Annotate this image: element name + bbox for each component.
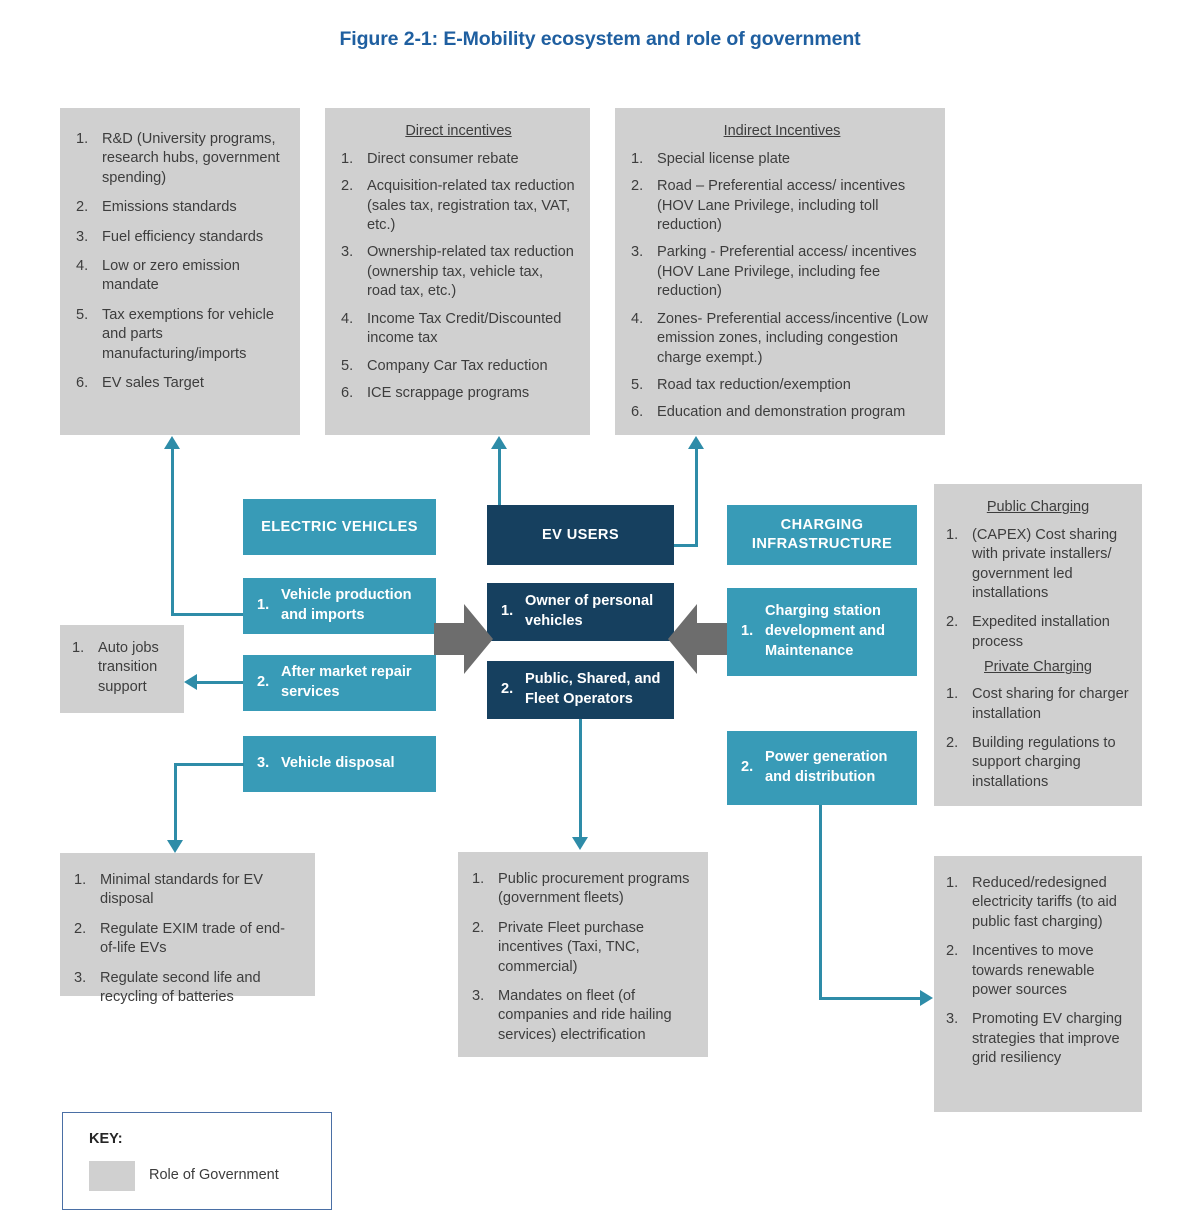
- charging-item-power-generation: 2. Power generation and distribution: [727, 731, 917, 805]
- arrowhead-up-vehicle-policy: [164, 436, 180, 449]
- indirect-incentives-list: Special license plate Road – Preferentia…: [631, 150, 933, 423]
- arrowhead-down-fleet-policy: [572, 837, 588, 850]
- indirect-incentives-header: Indirect Incentives: [631, 122, 933, 141]
- list-item: Auto jobs transition support: [72, 639, 176, 697]
- connector-power-vertical: [819, 805, 822, 1000]
- item-text: Power generation and distribution: [765, 748, 907, 787]
- item-text: Charging station development and Mainten…: [765, 602, 907, 661]
- list-item: Emissions standards: [76, 198, 282, 217]
- list-item: Expedited installation process: [946, 613, 1130, 652]
- evuser-item-owner-personal: 1. Owner of personal vehicles: [487, 583, 674, 641]
- item-number: 2.: [257, 673, 281, 693]
- list-item: Promoting EV charging strategies that im…: [946, 1010, 1130, 1068]
- fleet-policy-list: Public procurement programs (government …: [472, 870, 694, 1045]
- arrowhead-left-auto-jobs: [184, 674, 197, 690]
- gov-box-power-policy: Reduced/redesigned electricity tariffs (…: [934, 856, 1142, 1112]
- evuser-item-fleet-operators: 2. Public, Shared, and Fleet Operators: [487, 661, 674, 719]
- list-item: Road – Preferential access/ incentives (…: [631, 177, 933, 235]
- power-policy-list: Reduced/redesigned electricity tariffs (…: [946, 874, 1130, 1069]
- pillar-title-text: ELECTRIC VEHICLES: [261, 518, 418, 537]
- connector-fleet-vertical: [579, 719, 582, 839]
- pillar-electric-vehicles-title: ELECTRIC VEHICLES: [243, 499, 436, 555]
- item-number: 2.: [501, 680, 525, 700]
- list-item: Building regulations to support charging…: [946, 734, 1130, 792]
- gov-box-fleet-policy: Public procurement programs (government …: [458, 852, 708, 1057]
- list-item: R&D (University programs, research hubs,…: [76, 130, 282, 188]
- flow-arrow-vehicles-to-users-icon: [434, 602, 494, 676]
- list-item: Tax exemptions for vehicle and parts man…: [76, 306, 282, 364]
- connector-disposal-horizontal: [174, 763, 244, 766]
- gov-box-vehicle-policy: R&D (University programs, research hubs,…: [60, 108, 300, 435]
- connector-evusers-to-indirect-vertical: [695, 448, 698, 546]
- figure-canvas: Figure 2-1: E-Mobility ecosystem and rol…: [0, 0, 1200, 1231]
- private-charging-list: Cost sharing for charger installation Bu…: [946, 685, 1130, 792]
- item-text: After market repair services: [281, 663, 426, 702]
- gov-box-auto-jobs: Auto jobs transition support: [60, 625, 184, 713]
- pillar-title-text: CHARGING INFRASTRUCTURE: [727, 516, 917, 553]
- key-legend: KEY: Role of Government: [62, 1112, 332, 1210]
- item-text: Owner of personal vehicles: [525, 592, 664, 631]
- list-item: Acquisition-related tax reduction (sales…: [341, 177, 576, 235]
- gov-box-disposal-policy: Minimal standards for EV disposal Regula…: [60, 853, 315, 996]
- list-item: Mandates on fleet (of companies and ride…: [472, 987, 694, 1045]
- list-item: Cost sharing for charger installation: [946, 685, 1130, 724]
- list-item: Private Fleet purchase incentives (Taxi,…: [472, 919, 694, 977]
- list-item: Fuel efficiency standards: [76, 228, 282, 247]
- pillar-charging-infrastructure-title: CHARGING INFRASTRUCTURE: [727, 505, 917, 565]
- pillar-ev-users-title: EV USERS: [487, 505, 674, 565]
- public-charging-list: (CAPEX) Cost sharing with private instal…: [946, 526, 1130, 652]
- key-title: KEY:: [89, 1131, 123, 1147]
- disposal-policy-list: Minimal standards for EV disposal Regula…: [74, 871, 301, 1007]
- pillar-title-text: EV USERS: [542, 526, 619, 545]
- item-number: 1.: [257, 596, 281, 616]
- connector-repair-to-autojobs: [197, 681, 243, 684]
- ev-item-after-market-repair: 2. After market repair services: [243, 655, 436, 711]
- flow-arrow-charging-to-users-icon: [668, 602, 728, 676]
- list-item: Special license plate: [631, 150, 933, 169]
- private-charging-header: Private Charging: [946, 658, 1130, 677]
- direct-incentives-list: Direct consumer rebate Acquisition-relat…: [341, 150, 576, 403]
- vehicle-policy-list: R&D (University programs, research hubs,…: [76, 130, 282, 393]
- connector-power-horizontal: [819, 997, 922, 1000]
- list-item: Incentives to move towards renewable pow…: [946, 942, 1130, 1000]
- arrowhead-up-indirect-incentives: [688, 436, 704, 449]
- item-number: 3.: [257, 754, 281, 774]
- item-number: 1.: [501, 602, 525, 622]
- gov-box-charging-policy: Public Charging (CAPEX) Cost sharing wit…: [934, 484, 1142, 806]
- connector-disposal-vertical: [174, 763, 177, 843]
- item-text: Vehicle production and imports: [281, 586, 426, 625]
- list-item: EV sales Target: [76, 374, 282, 393]
- gov-box-direct-incentives: Direct incentives Direct consumer rebate…: [325, 108, 590, 435]
- ev-item-vehicle-disposal: 3. Vehicle disposal: [243, 736, 436, 792]
- connector-vehicles-to-policy-vertical: [171, 448, 174, 615]
- list-item: Regulate EXIM trade of end-of-life EVs: [74, 920, 301, 959]
- list-item: (CAPEX) Cost sharing with private instal…: [946, 526, 1130, 604]
- list-item: ICE scrappage programs: [341, 384, 576, 403]
- list-item: Road tax reduction/exemption: [631, 376, 933, 395]
- public-charging-header: Public Charging: [946, 498, 1130, 517]
- arrowhead-up-direct-incentives: [491, 436, 507, 449]
- auto-jobs-list: Auto jobs transition support: [72, 639, 176, 697]
- list-item: Income Tax Credit/Discounted income tax: [341, 310, 576, 349]
- key-swatch-government: [89, 1161, 135, 1191]
- list-item: Public procurement programs (government …: [472, 870, 694, 909]
- ev-item-vehicle-production: 1. Vehicle production and imports: [243, 578, 436, 634]
- list-item: Reduced/redesigned electricity tariffs (…: [946, 874, 1130, 932]
- gov-box-indirect-incentives: Indirect Incentives Special license plat…: [615, 108, 945, 435]
- item-text: Public, Shared, and Fleet Operators: [525, 670, 664, 709]
- list-item: Regulate second life and recycling of ba…: [74, 969, 301, 1008]
- list-item: Ownership-related tax reduction (ownersh…: [341, 243, 576, 301]
- item-text: Vehicle disposal: [281, 754, 426, 774]
- figure-title: Figure 2-1: E-Mobility ecosystem and rol…: [0, 28, 1200, 51]
- charging-item-station-development: 1. Charging station development and Main…: [727, 588, 917, 676]
- list-item: Company Car Tax reduction: [341, 357, 576, 376]
- list-item: Minimal standards for EV disposal: [74, 871, 301, 910]
- list-item: Direct consumer rebate: [341, 150, 576, 169]
- list-item: Low or zero emission mandate: [76, 257, 282, 296]
- list-item: Zones- Preferential access/incentive (Lo…: [631, 310, 933, 368]
- connector-vehicles-to-policy-horizontal: [171, 613, 243, 616]
- key-label-government: Role of Government: [149, 1167, 279, 1183]
- list-item: Parking - Preferential access/ incentive…: [631, 243, 933, 301]
- list-item: Education and demonstration program: [631, 403, 933, 422]
- item-number: 2.: [741, 758, 765, 778]
- item-number: 1.: [741, 622, 765, 642]
- arrowhead-right-power-policy: [920, 990, 933, 1006]
- direct-incentives-header: Direct incentives: [341, 122, 576, 141]
- arrowhead-down-disposal-policy: [167, 840, 183, 853]
